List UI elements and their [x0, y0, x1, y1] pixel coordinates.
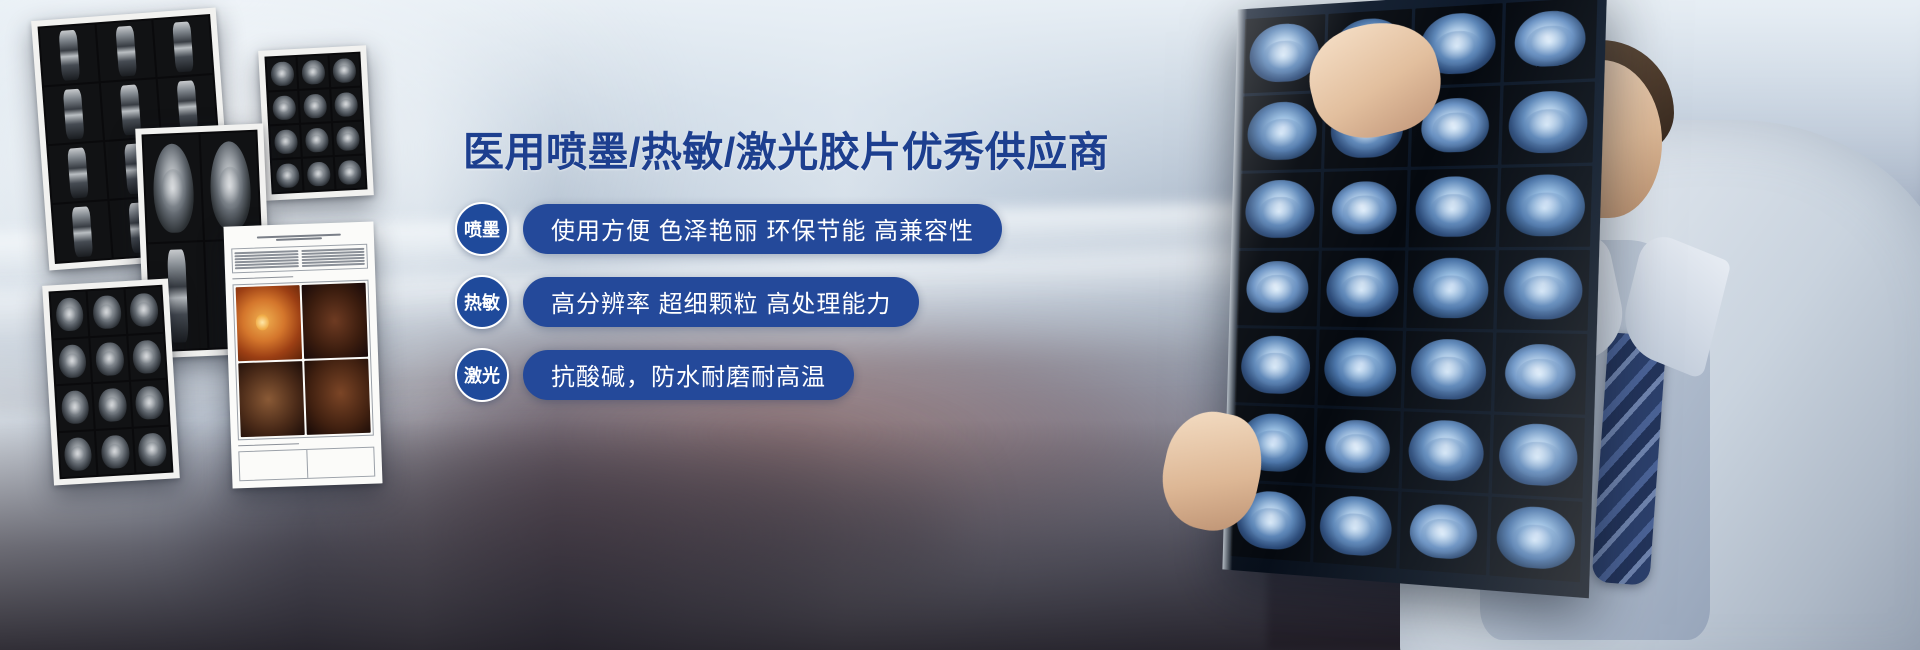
feature-text-thermal: 高分辨率 超细颗粒 高处理能力 — [523, 277, 919, 327]
report-footer-table — [238, 447, 375, 482]
feature-tag-thermal: 热敏 — [455, 275, 509, 329]
film-sheet-color-report — [223, 221, 382, 488]
feature-tag-inkjet: 喷墨 — [455, 202, 509, 256]
doctor-photo — [1020, 0, 1920, 650]
report-patient-info — [231, 244, 368, 274]
feature-row-inkjet: 喷墨 使用方便 色泽艳丽 环保节能 高兼容性 — [455, 202, 1075, 256]
banner-content: 医用喷墨/热敏/激光胶片优秀供应商 喷墨 使用方便 色泽艳丽 环保节能 高兼容性… — [455, 130, 1075, 421]
report-fundus-images — [232, 280, 373, 441]
feature-row-laser: 激光 抗酸碱，防水耐磨耐高温 — [455, 348, 1075, 402]
feature-text-laser: 抗酸碱，防水耐磨耐高温 — [523, 350, 854, 400]
film-sheet-brain-grid-top — [258, 45, 374, 200]
film-sheet-brain-grid-bottom — [42, 278, 180, 485]
feature-tag-laser: 激光 — [455, 348, 509, 402]
report-title-lines — [231, 229, 367, 246]
feature-row-thermal: 热敏 高分辨率 超细颗粒 高处理能力 — [455, 275, 1075, 329]
feature-text-inkjet: 使用方便 色泽艳丽 环保节能 高兼容性 — [523, 204, 1002, 254]
medical-film-stack — [0, 0, 420, 650]
page-title: 医用喷墨/热敏/激光胶片优秀供应商 — [463, 130, 1075, 176]
hero-banner: 医用喷墨/热敏/激光胶片优秀供应商 喷墨 使用方便 色泽艳丽 环保节能 高兼容性… — [0, 0, 1920, 650]
